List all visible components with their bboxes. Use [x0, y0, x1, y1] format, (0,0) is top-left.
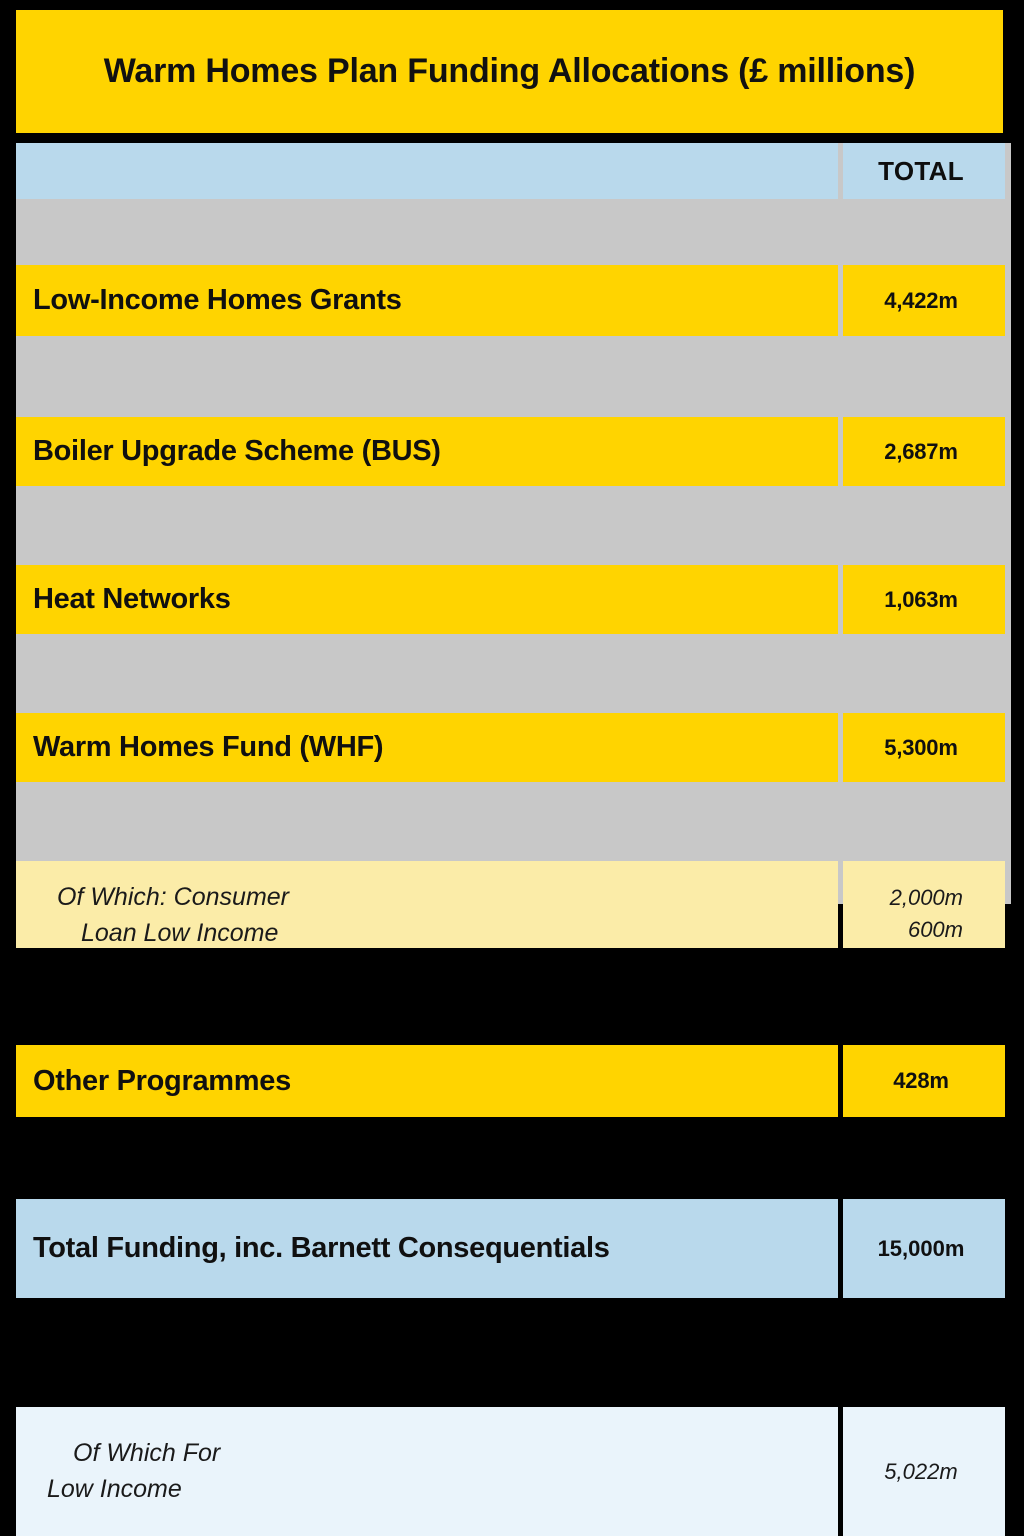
row-value-text: 15,000m — [878, 1236, 965, 1262]
row-label-total-funding: Total Funding, inc. Barnett Consequentia… — [16, 1199, 838, 1298]
table-row[interactable]: Low-Income Homes Grants 4,422m — [16, 204, 1011, 280]
subrow-value-line-2: 600m — [908, 914, 963, 946]
header-cell-label — [16, 143, 838, 199]
subrow-value-of-which-for-low-income: 5,022m — [843, 1407, 1005, 1536]
row-value-other-programmes: 428m — [843, 1045, 1005, 1117]
subrow-label-line-1: Of Which For — [33, 1435, 828, 1471]
table-row[interactable]: Boiler Upgrade Scheme (BUS) 2,687m — [16, 280, 1011, 354]
table-row[interactable]: Heat Networks 1,063m — [16, 354, 1011, 428]
subrow-label-line-2: Loan Low Income — [33, 915, 828, 951]
page-root: Warm Homes Plan Funding Allocations (£ m… — [0, 0, 1024, 904]
chart-title-banner: Warm Homes Plan Funding Allocations (£ m… — [16, 10, 1003, 133]
header-cell-total: TOTAL — [843, 143, 1005, 199]
table-subrow[interactable]: Of Which: Consumer Loan Low Income 2,000… — [16, 502, 1011, 594]
subrow-value-text: 5,022m — [884, 1456, 957, 1488]
row-value-total-funding: 15,000m — [843, 1199, 1005, 1298]
table-row[interactable]: Warm Homes Fund (WHF) 5,300m — [16, 428, 1011, 502]
page-title: Warm Homes Plan Funding Allocations (£ m… — [104, 53, 916, 90]
subrow-label-of-which-for-low-income: Of Which For Low Income — [16, 1407, 838, 1536]
subrow-label-line-2: Low Income — [33, 1471, 828, 1507]
row-label-other-programmes: Other Programmes — [16, 1045, 838, 1117]
table-total-row[interactable]: Total Funding, inc. Barnett Consequentia… — [16, 671, 1011, 775]
table-header-row: TOTAL — [16, 143, 1011, 204]
header-total-text: TOTAL — [878, 156, 964, 187]
row-label-text: Other Programmes — [33, 1065, 291, 1098]
row-label-text: Total Funding, inc. Barnett Consequentia… — [33, 1232, 610, 1265]
funding-table: TOTAL Low-Income Homes Grants 4,422m Boi… — [16, 143, 1011, 904]
row-value-text: 428m — [893, 1068, 948, 1094]
table-subrow[interactable]: Of Which For Low Income 5,022m — [16, 775, 1011, 909]
table-row[interactable]: Other Programmes 428m — [16, 594, 1011, 671]
